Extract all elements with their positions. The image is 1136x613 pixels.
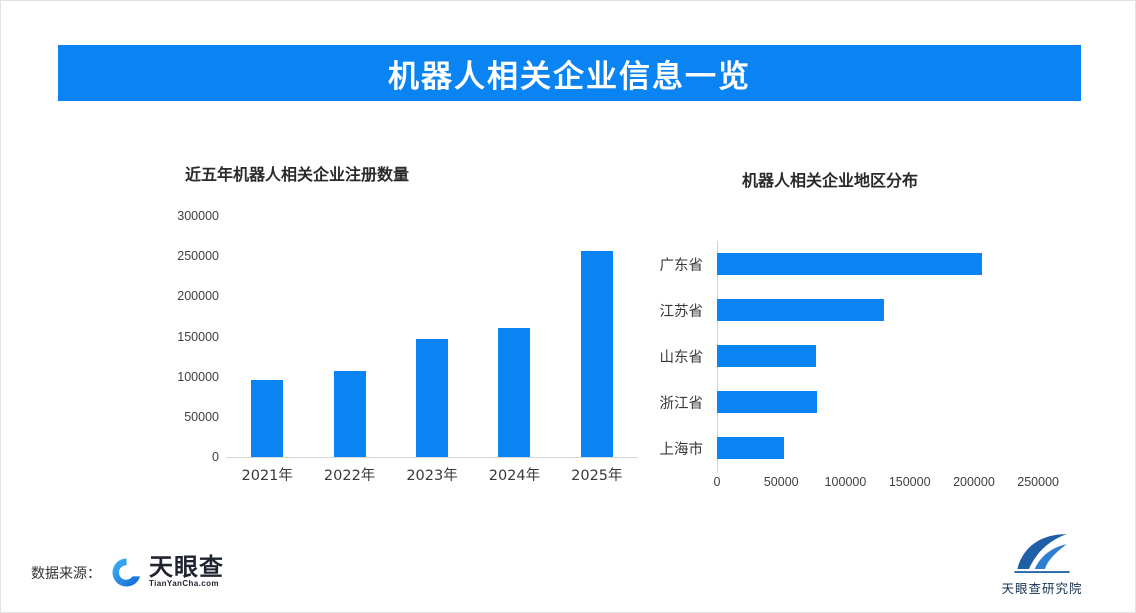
bar-chart-category-label: 江苏省 bbox=[631, 300, 717, 321]
bar-chart-row: 江苏省 bbox=[631, 287, 1051, 333]
left-chart-title: 近五年机器人相关企业注册数量 bbox=[185, 161, 409, 185]
tianyancha-research-institute-icon bbox=[1013, 531, 1071, 575]
bar-chart-category-label: 上海市 bbox=[631, 438, 717, 459]
right-chart-title: 机器人相关企业地区分布 bbox=[742, 167, 918, 191]
bar-chart-x-tick: 250000 bbox=[1017, 475, 1059, 489]
bar-chart-category-label: 广东省 bbox=[631, 254, 717, 275]
column-chart-x-tick: 2021年 bbox=[226, 464, 308, 485]
column-chart-y-tick: 50000 bbox=[184, 410, 219, 424]
bar-chart-x-tick: 200000 bbox=[953, 475, 995, 489]
column-chart-x-tick: 2022年 bbox=[308, 464, 390, 485]
data-source-label: 数据来源： bbox=[31, 563, 101, 583]
column-chart-x-tick: 2023年 bbox=[391, 464, 473, 485]
bar-chart-row: 广东省 bbox=[631, 241, 1051, 287]
column-chart-y-axis: 050000100000150000200000250000300000 bbox=[81, 216, 219, 473]
column-chart-x-tick: 2024年 bbox=[473, 464, 555, 485]
bar-chart-track bbox=[717, 425, 1051, 471]
bar-chart-row: 山东省 bbox=[631, 333, 1051, 379]
bar-chart-track bbox=[717, 333, 1051, 379]
bar-chart-x-tick: 150000 bbox=[889, 475, 931, 489]
column-chart-bar bbox=[416, 339, 448, 457]
column-chart-bar bbox=[334, 371, 366, 457]
column-chart-bar-slot bbox=[391, 216, 473, 457]
bar-chart-x-axis: 050000100000150000200000250000 bbox=[717, 475, 1051, 495]
bar-chart-bar bbox=[717, 299, 884, 321]
registrations-by-year-chart: 050000100000150000200000250000300000 202… bbox=[81, 216, 581, 506]
title-banner: 机器人相关企业信息一览 bbox=[58, 45, 1081, 101]
column-chart-baseline bbox=[226, 457, 638, 458]
column-chart-bar-slot bbox=[226, 216, 308, 457]
column-chart-y-tick: 300000 bbox=[177, 209, 219, 223]
tianyancha-wordmark: 天眼查 TianYanCha.com bbox=[149, 556, 224, 589]
column-chart-x-tick: 2025年 bbox=[556, 464, 638, 485]
bar-chart-track bbox=[717, 379, 1051, 425]
bar-chart-track bbox=[717, 287, 1051, 333]
column-chart-bars bbox=[226, 216, 638, 457]
column-chart-bar-slot bbox=[308, 216, 390, 457]
tianyancha-name-cn: 天眼查 bbox=[149, 556, 224, 578]
column-chart-y-tick: 100000 bbox=[177, 370, 219, 384]
bar-chart-x-tick: 100000 bbox=[825, 475, 867, 489]
bar-chart-bar bbox=[717, 391, 817, 413]
tianyancha-name-en: TianYanCha.com bbox=[149, 578, 224, 589]
bar-chart-category-label: 山东省 bbox=[631, 346, 717, 367]
bar-chart-bar bbox=[717, 253, 982, 275]
column-chart-bar-slot bbox=[473, 216, 555, 457]
regional-distribution-chart: 广东省江苏省山东省浙江省上海市 050000100000150000200000… bbox=[631, 241, 1051, 511]
data-source: 数据来源： 天眼查 TianYanCha.com bbox=[31, 556, 224, 589]
bar-chart-category-label: 浙江省 bbox=[631, 392, 717, 413]
research-institute-name: 天眼查研究院 bbox=[1001, 578, 1082, 597]
column-chart-x-axis: 2021年2022年2023年2024年2025年 bbox=[226, 464, 638, 485]
tianyancha-logo: 天眼查 TianYanCha.com bbox=[111, 556, 224, 589]
page-title: 机器人相关企业信息一览 bbox=[388, 51, 751, 96]
column-chart-y-tick: 150000 bbox=[177, 330, 219, 344]
column-chart-y-tick: 0 bbox=[212, 450, 219, 464]
bar-chart-x-tick: 0 bbox=[714, 475, 721, 489]
column-chart-y-tick: 200000 bbox=[177, 289, 219, 303]
bar-chart-x-tick: 50000 bbox=[764, 475, 799, 489]
tianyancha-lens-icon bbox=[111, 557, 142, 588]
bar-chart-bar bbox=[717, 437, 784, 459]
bar-chart-rows: 广东省江苏省山东省浙江省上海市 bbox=[631, 241, 1051, 471]
infographic-slide: 机器人相关企业信息一览 近五年机器人相关企业注册数量 0500001000001… bbox=[0, 0, 1136, 613]
column-chart-bar-slot bbox=[556, 216, 638, 457]
column-chart-bar bbox=[251, 380, 283, 457]
column-chart-y-tick: 250000 bbox=[177, 249, 219, 263]
research-institute-brand: 天眼查研究院 bbox=[977, 531, 1107, 597]
bar-chart-bar bbox=[717, 345, 816, 367]
bar-chart-row: 浙江省 bbox=[631, 379, 1051, 425]
column-chart-bar bbox=[498, 328, 530, 457]
bar-chart-track bbox=[717, 241, 1051, 287]
bar-chart-row: 上海市 bbox=[631, 425, 1051, 471]
column-chart-bar bbox=[581, 251, 613, 457]
